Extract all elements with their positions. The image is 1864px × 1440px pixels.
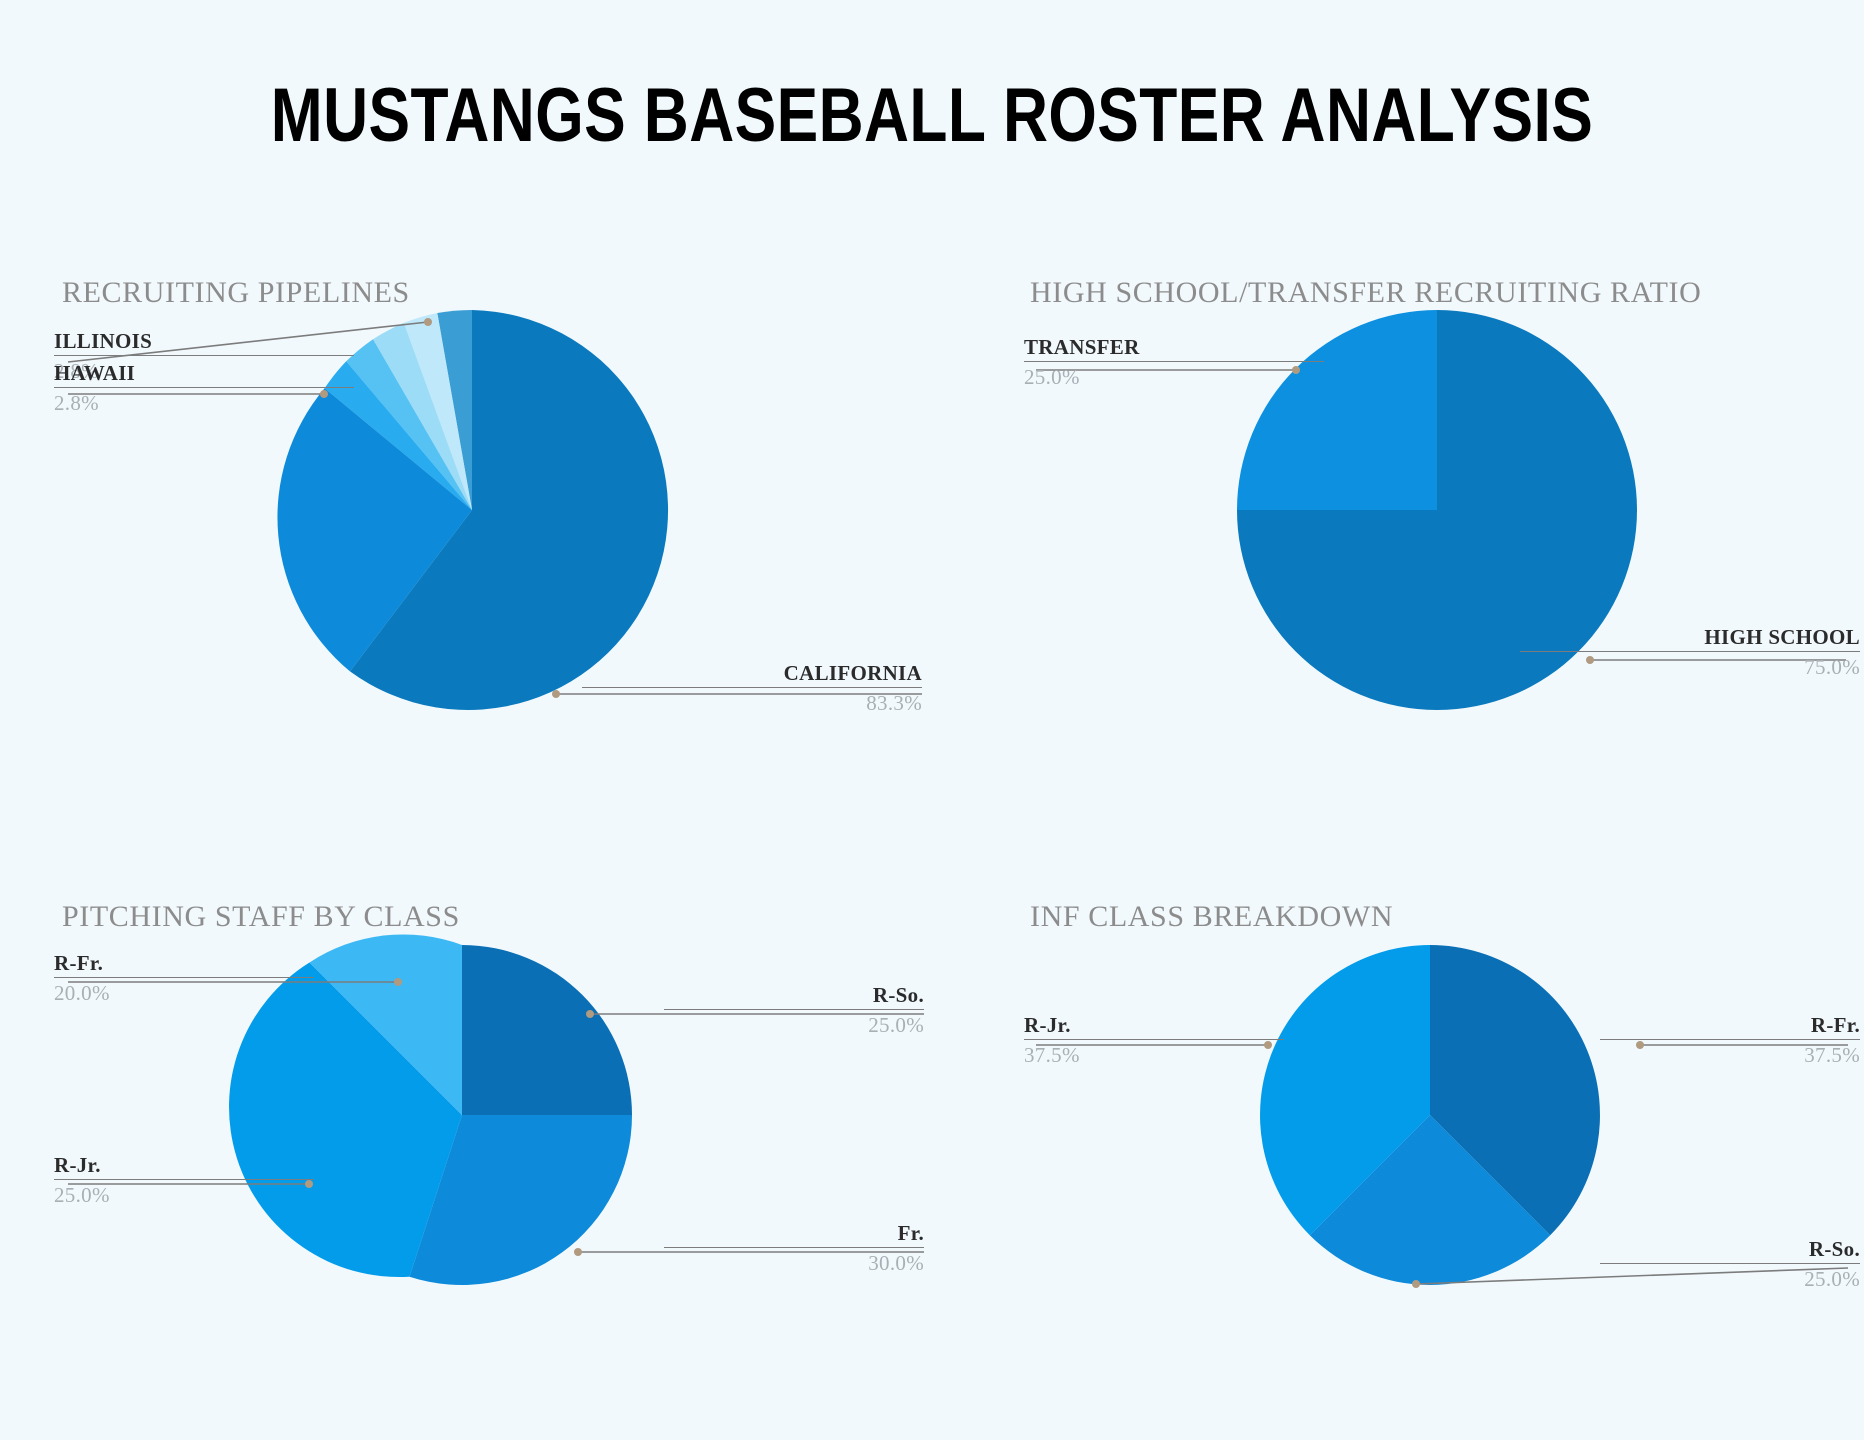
pie-label-pitching-fr: Fr. 30.0% bbox=[664, 1222, 924, 1275]
pie-slice-r-so[interactable] bbox=[462, 945, 632, 1115]
chart-panel-recruiting-pipelines: RECRUITING PIPELINES bbox=[62, 276, 942, 746]
pie-label-name-pitching-r-so: R-So. bbox=[664, 984, 924, 1010]
leader-dot-r-so bbox=[586, 1010, 594, 1018]
pie-chart-inf-class: R-Jr. 37.5% R-Fr. 37.5% R-So. 25.0% bbox=[1030, 900, 1864, 1370]
pie-label-name-pitching-fr: Fr. bbox=[664, 1222, 924, 1248]
chart-panel-pitching-staff: PITCHING STAFF BY CLASS bbox=[62, 900, 942, 1370]
chart-panel-hs-transfer-ratio: HIGH SCHOOL/TRANSFER RECRUITING RATIO TR… bbox=[1030, 276, 1864, 746]
pie-label-pitching-r-so: R-So. 25.0% bbox=[664, 984, 924, 1037]
pie-label-value-pitching-r-jr: 25.0% bbox=[54, 1180, 314, 1207]
pie-label-name-hawaii: HAWAII bbox=[54, 362, 354, 388]
pie-label-inf-r-fr: R-Fr. 37.5% bbox=[1600, 1014, 1860, 1067]
chart-panel-inf-class: INF CLASS BREAKDOWN R-Jr. 37.5% bbox=[1030, 900, 1864, 1370]
pie-label-value-pitching-r-fr: 20.0% bbox=[54, 978, 314, 1005]
leader-dot-illinois bbox=[424, 318, 432, 326]
pie-label-value-inf-r-fr: 37.5% bbox=[1600, 1040, 1860, 1067]
pie-label-name-california: CALIFORNIA bbox=[582, 662, 922, 688]
pie-label-name-high-school: HIGH SCHOOL bbox=[1520, 626, 1860, 652]
pie-label-name-illinois: ILLINOIS bbox=[54, 330, 354, 356]
pie-label-pitching-r-fr: R-Fr. 20.0% bbox=[54, 952, 314, 1005]
pie-label-pitching-r-jr: R-Jr. 25.0% bbox=[54, 1154, 314, 1207]
pie-chart-pitching-staff: R-Fr. 20.0% R-So. 25.0% R-Jr. 25.0% Fr. … bbox=[62, 900, 942, 1370]
pie-label-inf-r-so: R-So. 25.0% bbox=[1600, 1238, 1860, 1291]
pie-label-value-hawaii: 2.8% bbox=[54, 388, 354, 415]
leader-dot-r-fr bbox=[394, 978, 402, 986]
pie-label-value-pitching-r-so: 25.0% bbox=[664, 1010, 924, 1037]
pie-label-name-pitching-r-fr: R-Fr. bbox=[54, 952, 314, 978]
pie-label-hawaii: HAWAII 2.8% bbox=[54, 362, 354, 415]
pie-label-value-transfer: 25.0% bbox=[1024, 362, 1324, 389]
pie-label-high-school: HIGH SCHOOL 75.0% bbox=[1520, 626, 1860, 679]
pie-chart-hs-transfer-ratio: TRANSFER 25.0% HIGH SCHOOL 75.0% bbox=[1030, 276, 1864, 746]
pie-label-california: CALIFORNIA 83.3% bbox=[582, 662, 922, 715]
pie-label-value-inf-r-jr: 37.5% bbox=[1024, 1040, 1284, 1067]
pie-label-name-transfer: TRANSFER bbox=[1024, 336, 1324, 362]
pie-label-name-inf-r-so: R-So. bbox=[1600, 1238, 1860, 1264]
pie-label-transfer: TRANSFER 25.0% bbox=[1024, 336, 1324, 389]
leader-dot-california bbox=[552, 690, 560, 698]
leader-dot-inf-r-so bbox=[1412, 1280, 1420, 1288]
pie-label-value-high-school: 75.0% bbox=[1520, 652, 1860, 679]
page-title: MUSTANGS BASEBALL ROSTER ANALYSIS bbox=[168, 78, 1696, 154]
pie-label-name-pitching-r-jr: R-Jr. bbox=[54, 1154, 314, 1180]
pie-label-inf-r-jr: R-Jr. 37.5% bbox=[1024, 1014, 1284, 1067]
pie-label-value-california: 83.3% bbox=[582, 688, 922, 715]
pie-chart-recruiting-pipelines: ILLINOIS 2.8% HAWAII 2.8% CALIFORNIA 83.… bbox=[62, 276, 942, 746]
pie-label-value-inf-r-so: 25.0% bbox=[1600, 1264, 1860, 1291]
pie-slices-inf-class bbox=[1260, 945, 1600, 1285]
leader-dot-fr bbox=[574, 1248, 582, 1256]
pie-label-value-pitching-fr: 30.0% bbox=[664, 1248, 924, 1275]
pie-label-name-inf-r-jr: R-Jr. bbox=[1024, 1014, 1284, 1040]
pie-label-name-inf-r-fr: R-Fr. bbox=[1600, 1014, 1860, 1040]
